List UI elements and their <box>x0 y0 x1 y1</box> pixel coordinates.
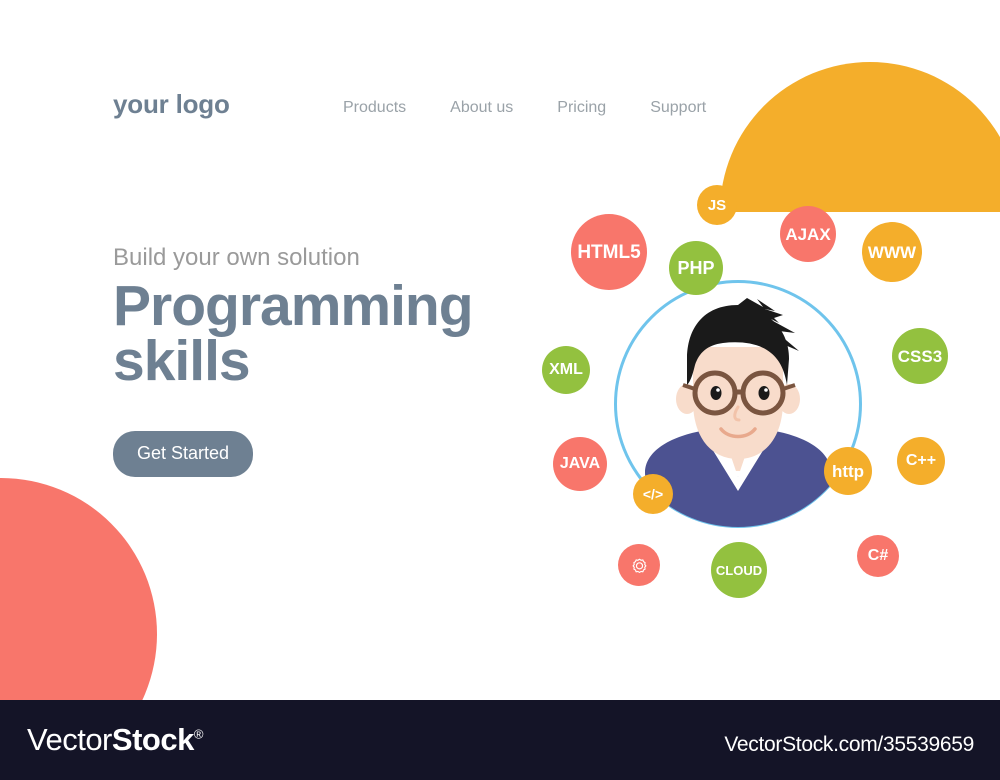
brand-bold: Stock <box>112 722 194 757</box>
bubble-http-label: http <box>832 463 864 480</box>
red-quarter-circle-decoration <box>0 478 157 700</box>
bubble-java-label: JAVA <box>560 456 600 472</box>
nav-item-support[interactable]: Support <box>650 99 706 117</box>
nav-item-about-us[interactable]: About us <box>450 99 513 117</box>
bubble-www-label: WWW <box>868 244 916 261</box>
bubble-csharp[interactable]: C# <box>857 535 899 577</box>
bubble-settings[interactable] <box>618 544 660 586</box>
bubble-css3-label: CSS3 <box>898 348 942 365</box>
vectorstock-logo: VectorStock® <box>27 722 203 758</box>
get-started-button[interactable]: Get Started <box>113 431 253 477</box>
skills-illustration: JSHTML5AJAXWWWPHPCSS3XMLC++JAVAhttp</>C#… <box>520 160 1000 630</box>
bubble-php[interactable]: PHP <box>669 241 723 295</box>
hero-title: Programming skills <box>113 279 533 390</box>
landing-page: your logo Products About us Pricing Supp… <box>0 0 1000 780</box>
bubble-html5-label: HTML5 <box>577 243 640 262</box>
bubble-js[interactable]: JS <box>697 185 737 225</box>
bubble-xml-label: XML <box>549 362 583 378</box>
gear-icon <box>631 557 648 574</box>
hero-section: Build your own solution Programming skil… <box>113 244 533 477</box>
vectorstock-url: VectorStock.com/35539659 <box>724 733 974 757</box>
bubble-html5[interactable]: HTML5 <box>571 214 647 290</box>
registered-mark-icon: ® <box>194 727 203 742</box>
bubble-ajax-label: AJAX <box>785 226 830 243</box>
site-logo[interactable]: your logo <box>113 89 230 120</box>
bubble-js-label: JS <box>708 198 726 213</box>
watermark-footer: VectorStock® VectorStock.com/35539659 <box>0 700 1000 780</box>
bubble-cloud[interactable]: CLOUD <box>711 542 767 598</box>
brand-thin: Vector <box>27 722 112 757</box>
bubble-csharp-label: C# <box>868 548 888 564</box>
bubble-cplusplus[interactable]: C++ <box>897 437 945 485</box>
bubble-http[interactable]: http <box>824 447 872 495</box>
bubble-css3[interactable]: CSS3 <box>892 328 948 384</box>
site-header: your logo Products About us Pricing Supp… <box>0 0 1000 160</box>
bubble-java[interactable]: JAVA <box>553 437 607 491</box>
bubble-php-label: PHP <box>677 259 714 277</box>
hero-eyebrow: Build your own solution <box>113 244 533 273</box>
bubble-cloud-label: CLOUD <box>716 564 762 577</box>
artboard: your logo Products About us Pricing Supp… <box>0 0 1000 700</box>
main-navigation: Products About us Pricing Support <box>343 99 706 117</box>
bubble-xml[interactable]: XML <box>542 346 590 394</box>
bubble-ajax[interactable]: AJAX <box>780 206 836 262</box>
bubble-code[interactable]: </> <box>633 474 673 514</box>
bubble-www[interactable]: WWW <box>862 222 922 282</box>
nav-item-products[interactable]: Products <box>343 99 406 117</box>
hero-title-line-2: skills <box>113 329 250 393</box>
bubble-cplusplus-label: C++ <box>906 453 936 469</box>
nav-item-pricing[interactable]: Pricing <box>557 99 606 117</box>
bubble-code-label: </> <box>643 487 663 501</box>
